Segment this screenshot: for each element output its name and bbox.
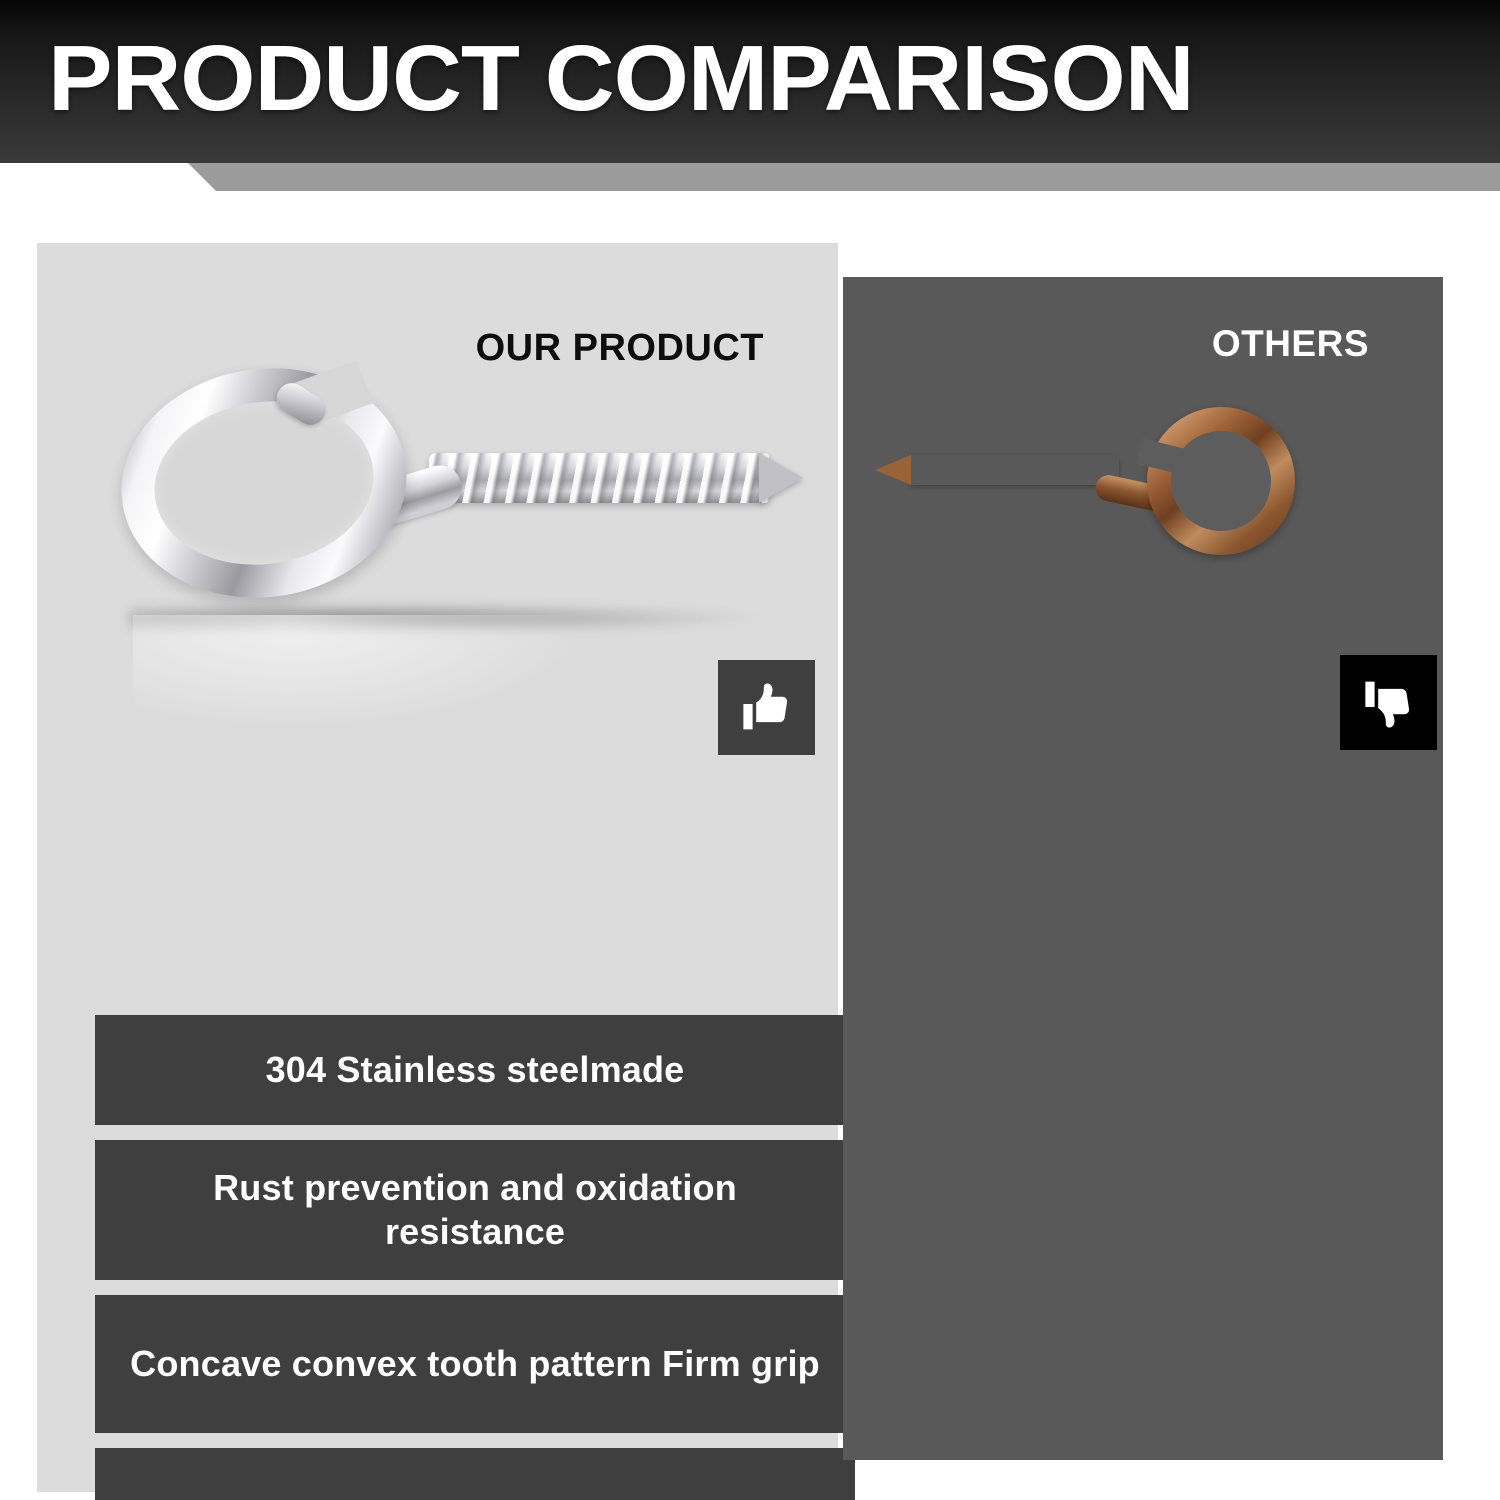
screw-eye-loop	[107, 353, 422, 616]
thumbs-up-icon	[740, 681, 794, 735]
rusty-screw-eye-loop	[1147, 407, 1295, 555]
thumbs-down-icon	[1362, 676, 1416, 730]
page-title: PRODUCT COMPARISON	[48, 32, 1194, 125]
header-accent-stripe	[0, 163, 1500, 191]
product-comparison-infographic: PRODUCT COMPARISON OUR PRODUCT 304 Stain…	[0, 0, 1500, 1500]
others-panel: OTHERS Low quality material Easy to rust…	[843, 277, 1443, 1460]
our-product-panel: OUR PRODUCT 304 Stainless steelmade Rust…	[37, 243, 838, 1492]
thumbs-up-badge	[718, 660, 815, 755]
feature-item: Concave convex tooth pattern Firm grip	[95, 1295, 855, 1433]
feature-item: Load bearing 600LBS	[95, 1448, 855, 1500]
header-banner: PRODUCT COMPARISON	[0, 0, 1500, 163]
screw-tip	[759, 453, 803, 503]
screw-shank	[429, 453, 769, 503]
feature-item: 304 Stainless steelmade	[95, 1015, 855, 1125]
others-product-image	[843, 397, 1443, 697]
rusty-screw-tip	[875, 455, 911, 485]
rusty-screw-shank	[909, 455, 1119, 485]
thumbs-down-badge	[1340, 655, 1437, 750]
product-reflection	[133, 615, 603, 735]
feature-item: Rust prevention and oxidation resistance	[95, 1140, 855, 1280]
others-heading: OTHERS	[1212, 325, 1369, 362]
